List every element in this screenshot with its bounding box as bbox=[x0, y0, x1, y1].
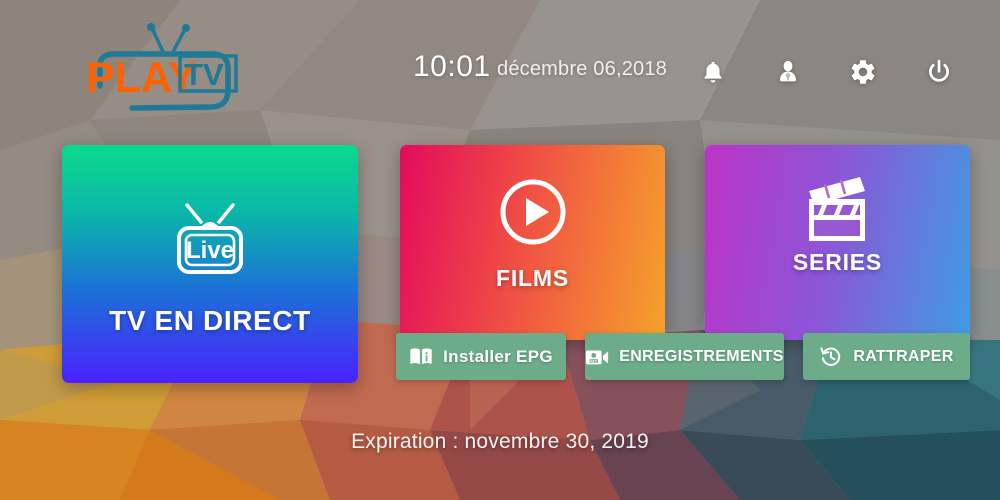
card-films[interactable]: FILMS bbox=[400, 145, 665, 340]
expiration-text: Expiration : novembre 30, 2019 bbox=[0, 430, 1000, 454]
card-tv-en-direct[interactable]: Live TV EN DIRECT bbox=[62, 145, 358, 383]
account-icon[interactable] bbox=[766, 50, 810, 94]
svg-text:Live: Live bbox=[186, 237, 234, 264]
power-icon[interactable] bbox=[917, 50, 961, 94]
install-epg-button[interactable]: Installer EPG bbox=[396, 333, 566, 380]
notifications-icon[interactable] bbox=[691, 50, 735, 94]
video-camera-rec-icon: REC bbox=[585, 345, 609, 369]
clock-history-icon bbox=[819, 345, 843, 369]
svg-text:REC: REC bbox=[591, 359, 599, 363]
playtv-home-screen: PLAY TV PLAY TV 10:01 décembre 06,2018 bbox=[0, 0, 1000, 500]
card-series[interactable]: SERIES bbox=[705, 145, 970, 340]
app-logo[interactable]: PLAY TV PLAY TV bbox=[72, 16, 272, 116]
live-tv-icon: Live bbox=[62, 197, 358, 283]
top-header-bar: PLAY TV PLAY TV 10:01 décembre 06,2018 bbox=[0, 0, 1000, 132]
book-info-icon bbox=[409, 345, 433, 369]
card-label-tv-en-direct: TV EN DIRECT bbox=[62, 305, 358, 337]
card-label-films: FILMS bbox=[400, 265, 665, 292]
settings-icon[interactable] bbox=[841, 50, 885, 94]
recordings-label: ENREGISTREMENTS bbox=[619, 348, 784, 366]
clapperboard-icon bbox=[705, 167, 970, 253]
card-label-series: SERIES bbox=[705, 249, 970, 276]
catchup-label: RATTRAPER bbox=[853, 348, 953, 366]
play-circle-icon bbox=[400, 169, 665, 255]
svg-text:TV: TV bbox=[184, 57, 224, 92]
clock-time: 10:01 bbox=[413, 50, 491, 84]
catchup-button[interactable]: RATTRAPER bbox=[803, 333, 970, 380]
recordings-button[interactable]: REC ENREGISTREMENTS bbox=[585, 333, 784, 380]
current-date: décembre 06,2018 bbox=[497, 58, 667, 81]
install-epg-label: Installer EPG bbox=[443, 347, 553, 367]
